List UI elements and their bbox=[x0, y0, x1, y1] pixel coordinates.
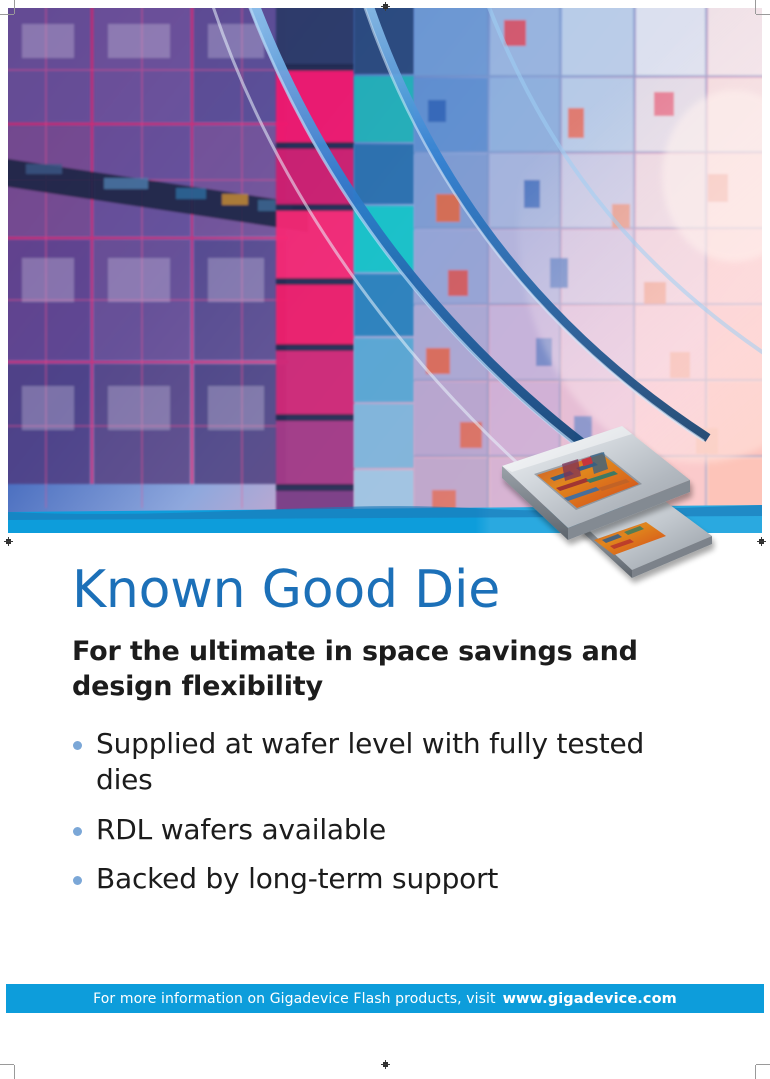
footer-bar: For more information on Gigadevice Flash… bbox=[6, 984, 764, 1013]
bullet-dot-icon bbox=[73, 876, 82, 885]
page-title: Known Good Die bbox=[0, 560, 770, 621]
bullet-dot-icon bbox=[73, 741, 82, 750]
subtitle: For the ultimate in space savings and de… bbox=[0, 635, 744, 704]
list-item-label: Supplied at wafer level with fully teste… bbox=[96, 727, 644, 796]
list-item: Backed by long-term support bbox=[0, 861, 770, 897]
bullet-dot-icon bbox=[73, 827, 82, 836]
footer-website-link[interactable]: www.gigadevice.com bbox=[503, 991, 677, 1007]
list-item-label: RDL wafers available bbox=[96, 813, 386, 846]
ad-page: Known Good Die For the ultimate in space… bbox=[0, 0, 770, 1079]
list-item: Supplied at wafer level with fully teste… bbox=[0, 726, 770, 797]
registration-mark-right bbox=[757, 537, 766, 546]
content-block: Known Good Die For the ultimate in space… bbox=[0, 560, 770, 911]
feature-list: Supplied at wafer level with fully teste… bbox=[0, 726, 770, 896]
wafer-illustration bbox=[8, 8, 762, 533]
footer-message: For more information on Gigadevice Flash… bbox=[93, 991, 495, 1007]
crop-mark-bottom-right bbox=[748, 1057, 770, 1079]
registration-mark-left bbox=[4, 537, 13, 546]
list-item-label: Backed by long-term support bbox=[96, 862, 498, 895]
hero-image bbox=[8, 8, 762, 533]
crop-mark-bottom-left bbox=[0, 1057, 22, 1079]
registration-mark-bottom bbox=[381, 1060, 390, 1069]
list-item: RDL wafers available bbox=[0, 812, 770, 848]
